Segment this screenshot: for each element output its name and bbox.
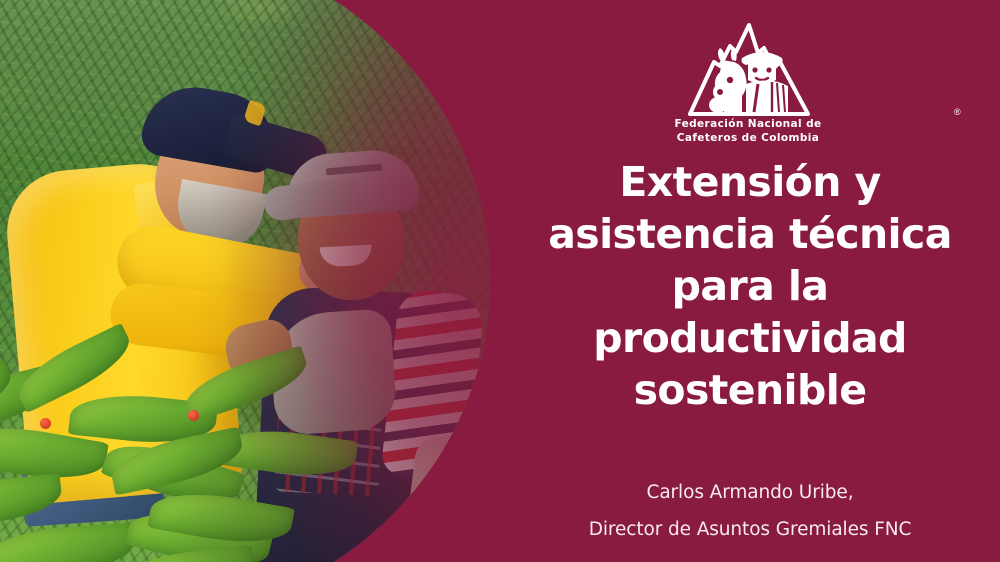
- presentation-slide: ® Federación Nacional de Cafeteros de Co…: [0, 0, 1000, 562]
- slide-content: ® Federación Nacional de Cafeteros de Co…: [500, 0, 1000, 562]
- fnc-logo-mark: [684, 22, 814, 118]
- coffee-farmers-photo: [0, 0, 490, 562]
- fnc-logo-text: Federación Nacional de Cafeteros de Colo…: [658, 118, 838, 145]
- fnc-logo: ® Federación Nacional de Cafeteros de Co…: [658, 22, 838, 146]
- page-title: Extensión y asistencia técnica para la p…: [500, 156, 1000, 416]
- photo-burgundy-tint: [0, 0, 490, 562]
- presenter-credit: Carlos Armando Uribe, Director de Asunto…: [500, 474, 1000, 548]
- registered-trademark-icon: ®: [954, 108, 961, 117]
